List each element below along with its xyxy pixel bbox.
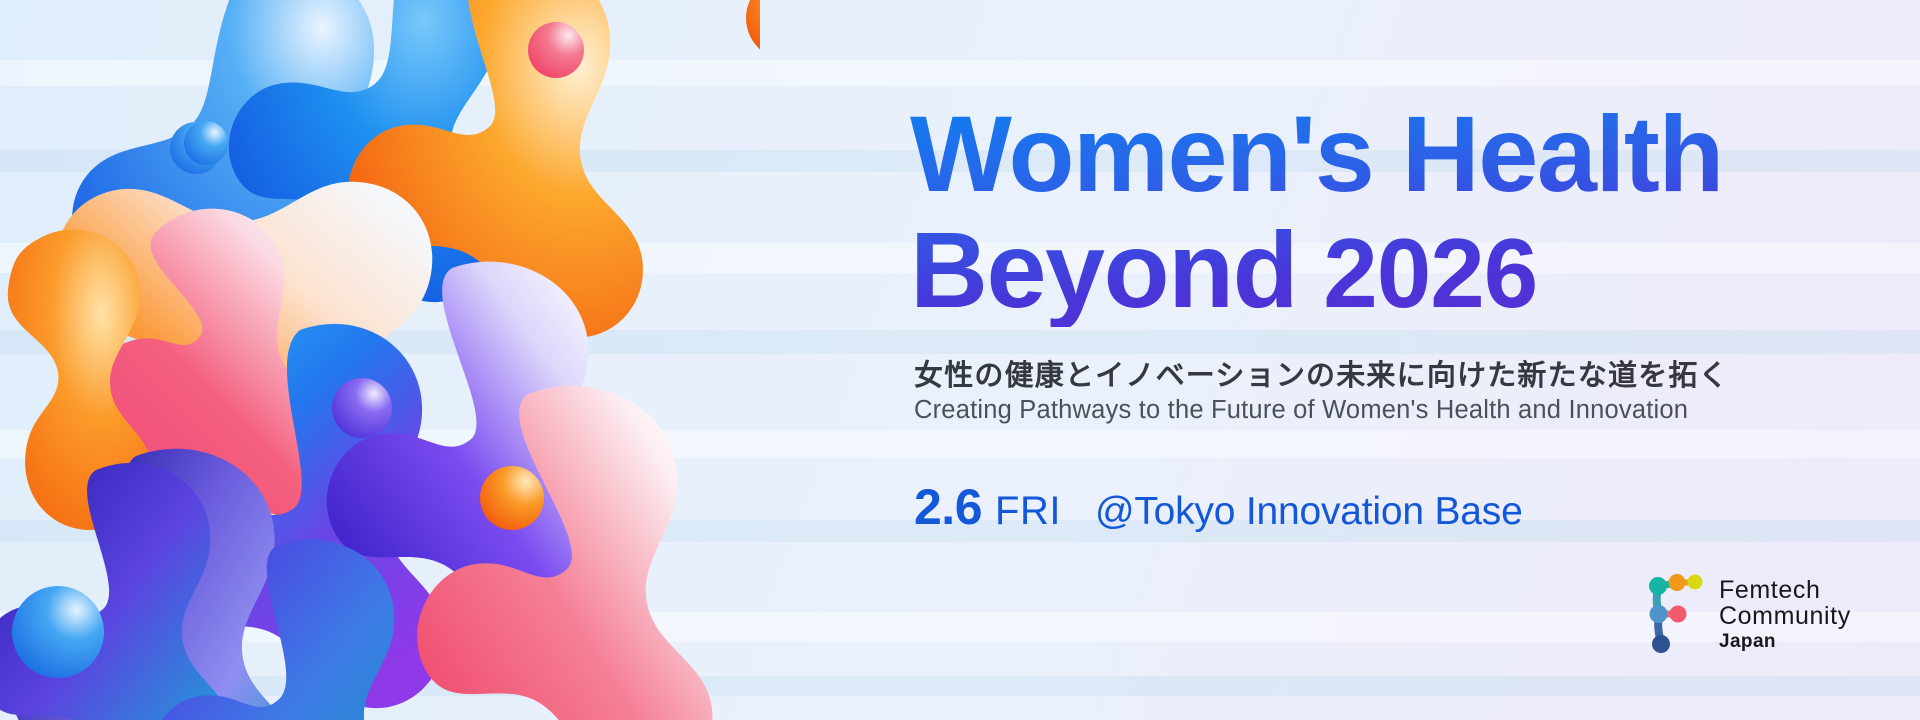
- event-date: 2.6: [914, 478, 982, 536]
- femtech-community-japan-logo[interactable]: Femtech Community Japan: [1645, 572, 1851, 656]
- subtitle-english: Creating Pathways to the Future of Women…: [914, 396, 1688, 425]
- logo-wordmark: Femtech Community Japan: [1719, 577, 1851, 652]
- abstract-blob-artwork: [0, 0, 760, 720]
- event-day-of-week: FRI: [995, 489, 1061, 534]
- page-title: Women's Health Beyond 2026: [910, 96, 1723, 327]
- title-line-1: Women's Health: [910, 93, 1723, 214]
- logo-line-community: Community: [1719, 603, 1851, 629]
- title-year: 2026: [1297, 218, 1537, 328]
- subtitle-japanese: 女性の健康とイノベーションの未来に向けた新たな道を拓く: [914, 352, 1729, 394]
- logo-line-femtech: Femtech: [1719, 577, 1851, 603]
- event-details: 2.6 FRI @Tokyo Innovation Base: [914, 478, 1523, 536]
- title-line-2: Beyond 2026: [910, 212, 1723, 328]
- logo-line-japan: Japan: [1719, 632, 1851, 652]
- femtech-node-f-icon: [1645, 572, 1705, 656]
- event-venue: @Tokyo Innovation Base: [1095, 490, 1523, 534]
- title-beyond-word: Beyond: [910, 209, 1297, 330]
- event-banner: Women's Health Beyond 2026 女性の健康とイノベーション…: [0, 0, 1920, 720]
